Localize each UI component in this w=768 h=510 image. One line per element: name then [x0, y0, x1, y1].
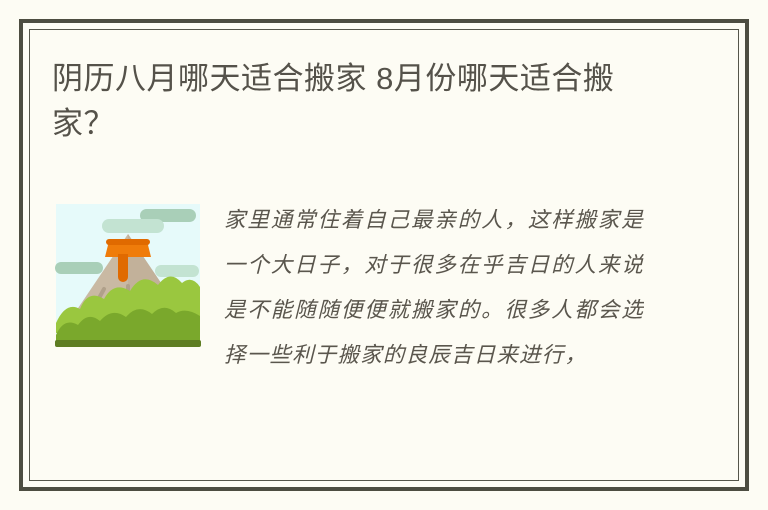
volcano-illustration-svg — [52, 201, 204, 353]
volcano-illustration — [52, 201, 204, 353]
article-content: 阴历八月哪天适合搬家 8月份哪天适合搬家？ — [30, 30, 738, 480]
article-page: 阴历八月哪天适合搬家 8月份哪天适合搬家？ — [0, 0, 768, 510]
article-body: 家里通常住着自己最亲的人，这样搬家是一个大日子，对于很多在乎吉日的人来说是不能随… — [52, 198, 716, 458]
page-title: 阴历八月哪天适合搬家 8月份哪天适合搬家？ — [52, 56, 652, 146]
article-paragraph: 家里通常住着自己最亲的人，这样搬家是一个大日子，对于很多在乎吉日的人来说是不能随… — [224, 198, 644, 378]
